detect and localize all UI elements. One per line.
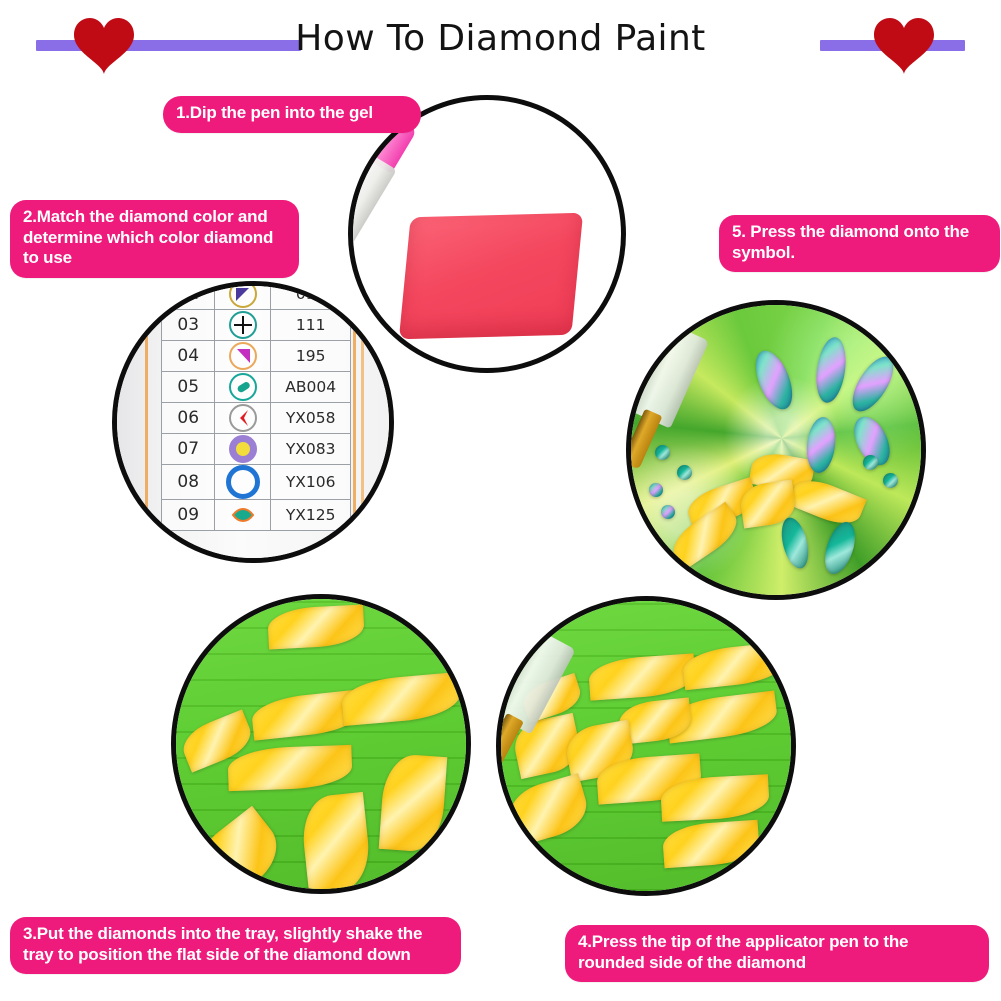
diamond-round (883, 473, 898, 488)
cell-code: 111 (271, 310, 351, 341)
page-title: How To Diamond Paint (0, 18, 1001, 59)
cell-number: 05 (162, 372, 215, 403)
cell-symbol (215, 341, 271, 372)
table-row: 08 YX106 (162, 465, 351, 500)
table-row: 03 111 (162, 310, 351, 341)
cell-number: 06 (162, 403, 215, 434)
circle-yellow-icon (229, 435, 257, 463)
step-label-2: 2.Match the diamond color and determine … (10, 200, 299, 278)
panel-diamond-tray (171, 594, 471, 894)
capsule-teal-icon (229, 373, 257, 401)
cell-number: 02 (162, 281, 215, 310)
cell-symbol (215, 310, 271, 341)
step-label-4: 4.Press the tip of the applicator pen to… (565, 925, 989, 982)
triangle-magenta-icon (229, 342, 257, 370)
arrow-red-icon (229, 404, 257, 432)
cell-number: 07 (162, 434, 215, 465)
panel-pen-pickup (496, 596, 796, 896)
diamond-round (655, 445, 670, 460)
pen-gel-photo (353, 100, 621, 368)
diamond-round (677, 465, 692, 480)
panel-color-chart: 02 093 03 111 (112, 281, 394, 563)
leaf-teal-icon (231, 503, 255, 527)
cell-code: 195 (271, 341, 351, 372)
table-row: 09 YX125 (162, 500, 351, 531)
cell-code: 093 (271, 281, 351, 310)
cell-symbol (215, 434, 271, 465)
ring-blue-icon (226, 465, 260, 499)
cell-symbol (215, 500, 271, 531)
cell-number: 04 (162, 341, 215, 372)
step-label-1: 1.Dip the pen into the gel (163, 96, 421, 133)
cell-code: YX083 (271, 434, 351, 465)
diamond-round (863, 455, 878, 470)
panel-pen-gel (348, 95, 626, 373)
chart-margin-line (361, 286, 364, 558)
cell-symbol (215, 403, 271, 434)
table-row: 06 YX058 (162, 403, 351, 434)
step-label-5: 5. Press the diamond onto the symbol. (719, 215, 1000, 272)
step-label-3: 3.Put the diamonds into the tray, slight… (10, 917, 461, 974)
cell-number: 09 (162, 500, 215, 531)
chart-margin-line (145, 286, 148, 558)
cell-symbol (215, 465, 271, 500)
table-row: 02 093 (162, 281, 351, 310)
cell-number: 08 (162, 465, 215, 500)
diamond-round (661, 505, 675, 519)
infographic-root: How To Diamond Paint 02 (0, 0, 1001, 1001)
diamond-round (649, 483, 663, 497)
table-row: 07 YX083 (162, 434, 351, 465)
cell-symbol (215, 281, 271, 310)
cell-code: YX058 (271, 403, 351, 434)
gel-pad (399, 213, 583, 339)
cell-code: YX106 (271, 465, 351, 500)
chart-margin-line (353, 286, 356, 558)
cell-code: YX125 (271, 500, 351, 531)
cell-code: AB004 (271, 372, 351, 403)
color-code-table: 02 093 03 111 (161, 281, 351, 531)
table-row: 05 AB004 (162, 372, 351, 403)
cell-number: 03 (162, 310, 215, 341)
panel-press-symbol (626, 300, 926, 600)
cell-symbol (215, 372, 271, 403)
triangle-dark-blue-icon (229, 281, 257, 308)
table-row: 04 195 (162, 341, 351, 372)
plus-cross-icon (229, 311, 257, 339)
